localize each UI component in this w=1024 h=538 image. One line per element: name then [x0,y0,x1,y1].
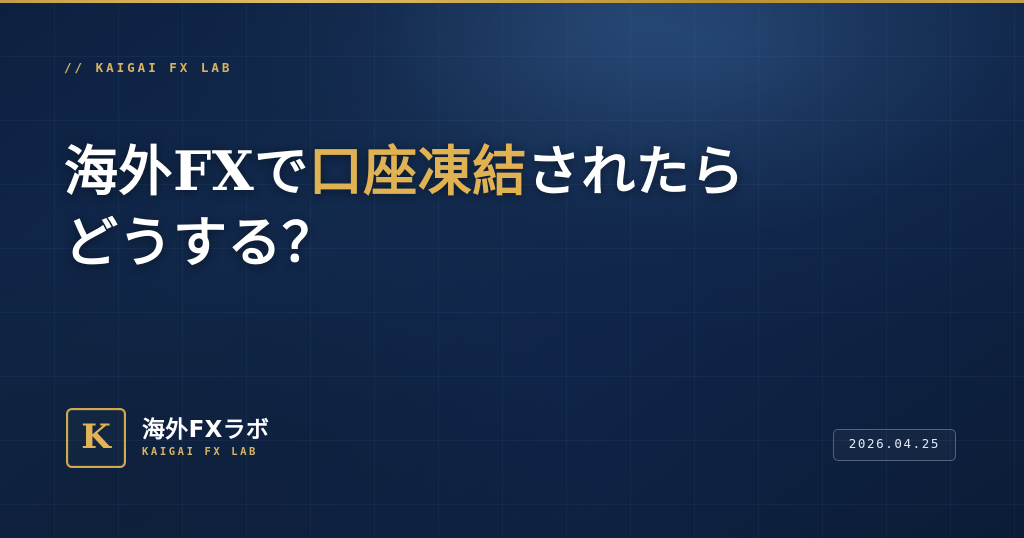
brand-subtitle: KAIGAI FX LAB [142,447,269,458]
brand-name: 海外FXラボ [142,419,269,442]
logo-monogram-icon: K [66,408,126,468]
headline-part-1: 海外FXで [64,139,309,203]
top-gold-rule [0,0,1024,3]
logo-monogram-letter: K [81,420,111,454]
kicker-label: // KAIGAI FX LAB [64,60,232,75]
brand-text-block: 海外FXラボ KAIGAI FX LAB [142,419,269,458]
headline-highlight: 口座凍結 [309,139,527,203]
brand-lockup: K 海外FXラボ KAIGAI FX LAB [66,408,269,468]
headline-line-2: どうする？ [64,210,337,274]
page-title: 海外FXで口座凍結されたら どうする？ [64,136,924,279]
banner-canvas: // KAIGAI FX LAB 海外FXで口座凍結されたら どうする？ K 海… [0,0,1024,538]
date-badge: 2026.04.25 [833,429,956,461]
headline-part-2: されたら [527,139,745,203]
